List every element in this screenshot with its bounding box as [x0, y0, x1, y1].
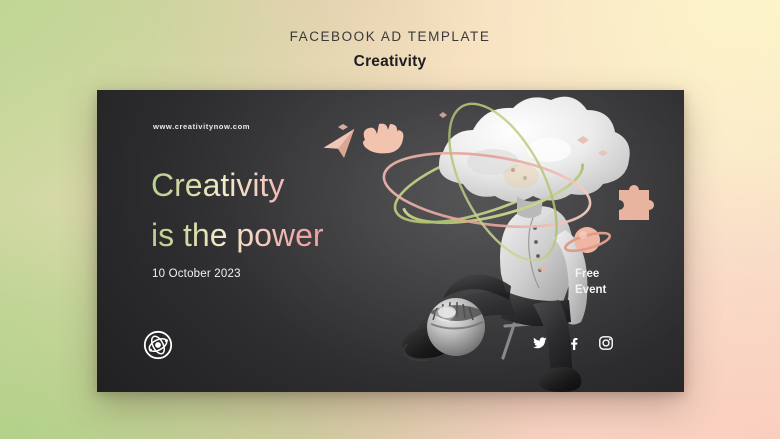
brand-logo[interactable]: [143, 330, 173, 360]
offer-line-1: Free: [575, 266, 606, 282]
event-date: 10 October 2023: [152, 268, 241, 280]
headline-line-1: Creativity: [151, 164, 324, 206]
orbit-badge-icon: [143, 330, 173, 360]
header-kicker: FACEBOOK AD TEMPLATE: [0, 28, 780, 46]
pointing-hand-icon: [363, 124, 403, 154]
puzzle-piece-icon: [619, 185, 654, 220]
facebook-icon[interactable]: [566, 336, 580, 350]
ad-artwork: [297, 90, 684, 392]
headline: Creativity is the power: [151, 164, 324, 256]
instagram-icon[interactable]: [599, 336, 613, 350]
seated-person: [402, 206, 587, 392]
offer-label: Free Event: [575, 266, 606, 298]
twitter-icon[interactable]: [533, 336, 547, 350]
headline-line-2: is the power: [151, 214, 324, 256]
facebook-ad-card: www.creativitynow.com Creativity is the …: [97, 90, 684, 392]
disco-ball: [427, 298, 485, 356]
page-title: Creativity: [0, 52, 780, 72]
website-url[interactable]: www.creativitynow.com: [153, 122, 250, 131]
page-header: FACEBOOK AD TEMPLATE Creativity: [0, 28, 780, 72]
offer-line-2: Event: [575, 282, 606, 298]
artwork-illustration: [297, 90, 684, 392]
social-links: [533, 336, 613, 350]
paper-plane-icon: [321, 129, 360, 162]
saturn-planet-icon: [564, 227, 612, 255]
